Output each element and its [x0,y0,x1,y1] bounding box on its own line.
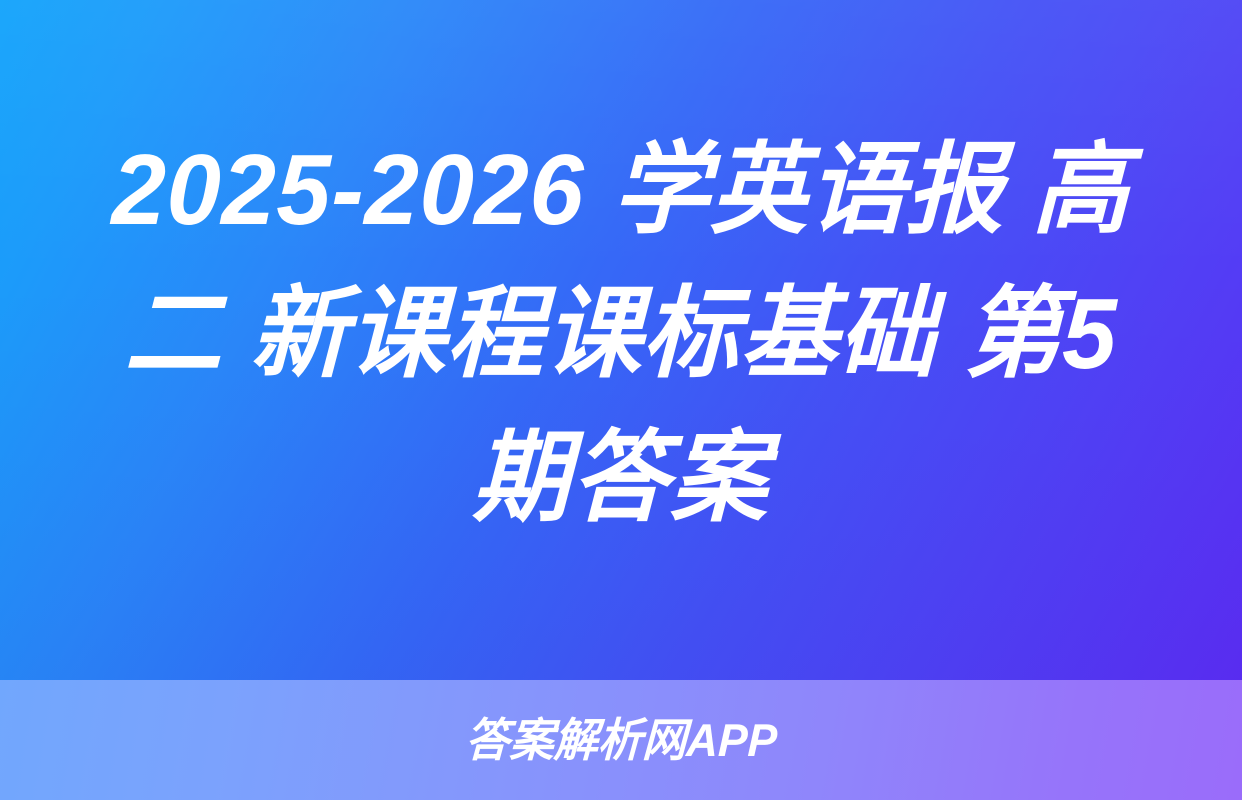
footer-brand-label: 答案解析网APP [464,714,777,766]
title-line-2: 二 新课程课标基础 第5 [57,262,1185,406]
poster-canvas: 2025-2026 学英语报 高 二 新课程课标基础 第5 期答案 答案解析网A… [0,0,1242,800]
title-line-1: 2025-2026 学英语报 高 [57,118,1185,262]
footer-brand-band: 答案解析网APP [0,680,1242,800]
title-line-3: 期答案 [57,406,1185,550]
poster-title-block: 2025-2026 学英语报 高 二 新课程课标基础 第5 期答案 [0,0,1242,680]
